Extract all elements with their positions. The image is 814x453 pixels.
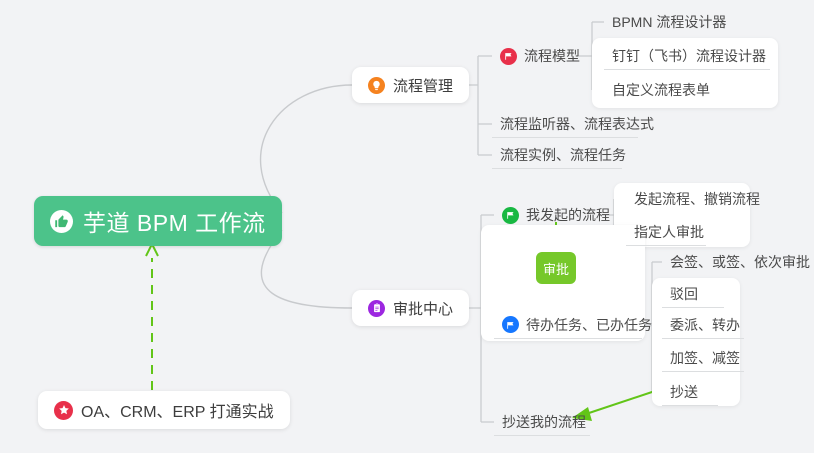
node-label: 抄送我的流程 (502, 412, 586, 432)
node-label: 发起流程、撤销流程 (634, 189, 760, 209)
node-label: 钉钉（飞书）流程设计器 (612, 46, 766, 66)
node-bpmn-designer[interactable]: BPMN 流程设计器 (604, 8, 752, 36)
flag-icon (502, 207, 519, 224)
node-label: 我发起的流程 (526, 205, 610, 225)
node-process-listener[interactable]: 流程监听器、流程表达式 (492, 110, 638, 138)
node-reject[interactable]: 驳回 (662, 280, 724, 308)
node-start-cancel-process[interactable]: 发起流程、撤销流程 (626, 185, 754, 213)
mindmap-canvas: 芋道 BPM 工作流 流程管理 流程模型 BPMN 流程设计器 钉钉（飞书）流程… (0, 0, 814, 453)
node-label: 加签、减签 (670, 348, 740, 368)
node-label: 待办任务、已办任务 (526, 315, 652, 335)
approval-flow-tag: 审批 (536, 252, 576, 284)
branch-label: 审批中心 (393, 298, 453, 319)
clipboard-icon (368, 300, 385, 317)
node-label: 流程监听器、流程表达式 (500, 114, 654, 134)
node-cc-to-me[interactable]: 抄送我的流程 (494, 408, 590, 436)
branch-label: 流程管理 (393, 75, 453, 96)
node-countersign[interactable]: 会签、或签、依次审批 (662, 248, 798, 276)
node-delegate-transfer[interactable]: 委派、转办 (662, 311, 744, 339)
node-custom-form[interactable]: 自定义流程表单 (604, 76, 732, 104)
node-label: 流程实例、流程任务 (500, 145, 626, 165)
branch-approval-center[interactable]: 审批中心 (352, 290, 469, 326)
node-label: 委派、转办 (670, 315, 740, 335)
branch-process-management[interactable]: 流程管理 (352, 67, 469, 103)
flag-icon (500, 48, 517, 65)
node-label: 会签、或签、依次审批 (670, 252, 810, 272)
node-label: 自定义流程表单 (612, 80, 710, 100)
node-label: 指定人审批 (634, 222, 704, 242)
node-process-model[interactable]: 流程模型 (492, 42, 578, 70)
root-node[interactable]: 芋道 BPM 工作流 (34, 196, 282, 246)
node-cc[interactable]: 抄送 (662, 378, 718, 406)
lightbulb-icon (368, 77, 385, 94)
node-label: 抄送 (670, 382, 698, 402)
node-label: 流程模型 (524, 46, 580, 66)
thumbs-up-icon (50, 210, 73, 233)
flag-icon (502, 316, 519, 333)
node-assignee-approval[interactable]: 指定人审批 (626, 218, 706, 246)
node-dingtalk-designer[interactable]: 钉钉（飞书）流程设计器 (604, 42, 770, 70)
node-my-processes[interactable]: 我发起的流程 (494, 201, 600, 229)
star-icon (54, 401, 73, 420)
approval-flow-tag-label: 审批 (543, 259, 569, 278)
footnote-label: OA、CRM、ERP 打通实战 (81, 398, 274, 422)
node-process-instance[interactable]: 流程实例、流程任务 (492, 141, 622, 169)
node-label: BPMN 流程设计器 (612, 12, 726, 32)
node-todo-done-tasks[interactable]: 待办任务、已办任务 (494, 311, 642, 339)
node-add-remove-sign[interactable]: 加签、减签 (662, 344, 744, 372)
root-label: 芋道 BPM 工作流 (83, 204, 266, 238)
footnote-node[interactable]: OA、CRM、ERP 打通实战 (38, 391, 290, 429)
node-label: 驳回 (670, 284, 698, 304)
